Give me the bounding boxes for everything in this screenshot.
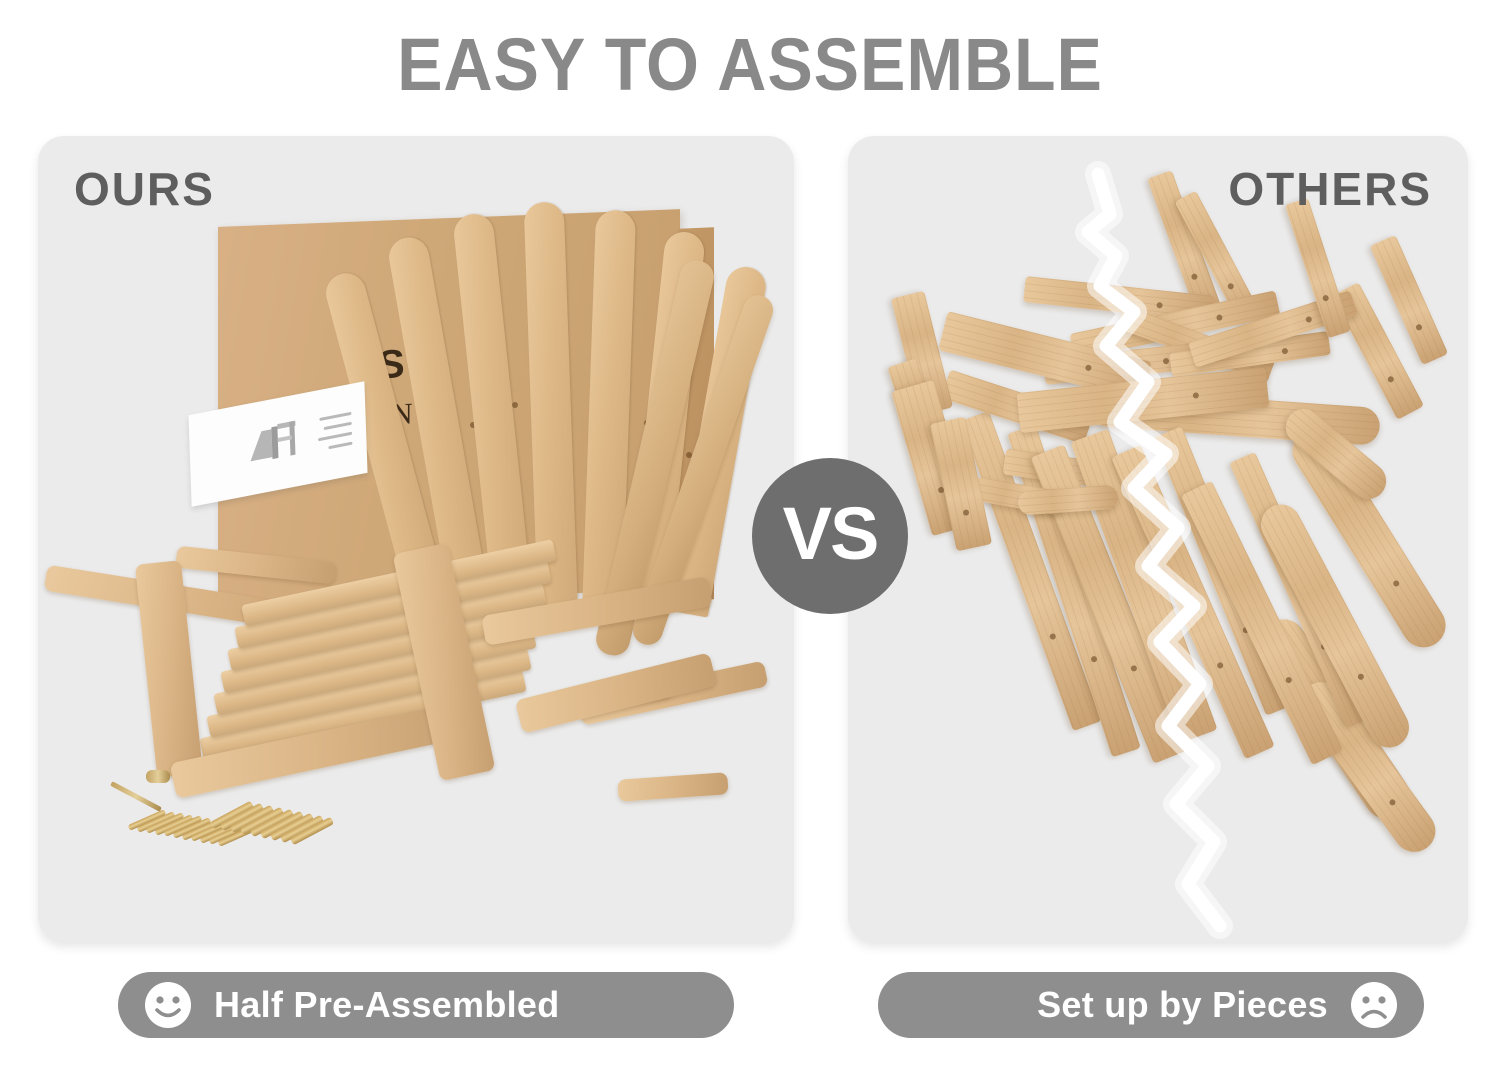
panel-label-others: OTHERS [1228,162,1432,216]
screw-hole [1388,798,1396,806]
screw-hole [1322,294,1330,302]
screw-hole [1156,302,1163,309]
seat-frame-support-rail [515,652,717,733]
screw-hole [1216,314,1223,321]
caption-text-ours: Half Pre-Assembled [214,984,560,1026]
caption-pill-others: Set up by Pieces [878,972,1424,1038]
screw-hole [1415,323,1423,331]
screw-hole [512,402,518,408]
panel-others: OTHERS [848,136,1468,942]
screw-hole [962,509,969,516]
screw-hole [1162,645,1170,653]
screw-hole [1193,392,1200,399]
smiley-face-icon [144,981,192,1029]
caption-pill-ours: Half Pre-Assembled [118,972,734,1038]
screw-hole [1305,316,1313,324]
caption-text-others: Set up by Pieces [1037,984,1328,1026]
sad-face-icon [1350,981,1398,1029]
hardware-kit [100,756,400,896]
versus-badge: VS [752,458,908,614]
chair-diagram-icon [241,411,305,469]
allen-wrench [110,781,162,812]
screw-hole [1049,633,1057,641]
screw-hole [1227,282,1235,290]
panel-label-ours: OURS [74,162,215,216]
page-title: EASY TO ASSEMBLE [60,26,1440,104]
panel-ours: OURS SU ADIRON [38,136,794,942]
screw-hole [1090,655,1098,663]
screw-hole [1085,364,1092,371]
screw-hole [1282,348,1289,355]
screw-hole [1387,375,1395,383]
screw-hole [1285,676,1293,684]
screw-hole [1130,664,1138,672]
versus-label: VS [783,497,878,571]
allen-wrench-head [146,770,170,783]
screw-hole [1191,273,1199,281]
seat-frame-left-rail [135,560,203,778]
screw-hole [1392,579,1400,587]
scattered-pieces-group [848,136,1468,942]
screw-hole [1216,661,1224,669]
screw-hole [1163,358,1170,365]
screw-hole [1357,673,1365,681]
